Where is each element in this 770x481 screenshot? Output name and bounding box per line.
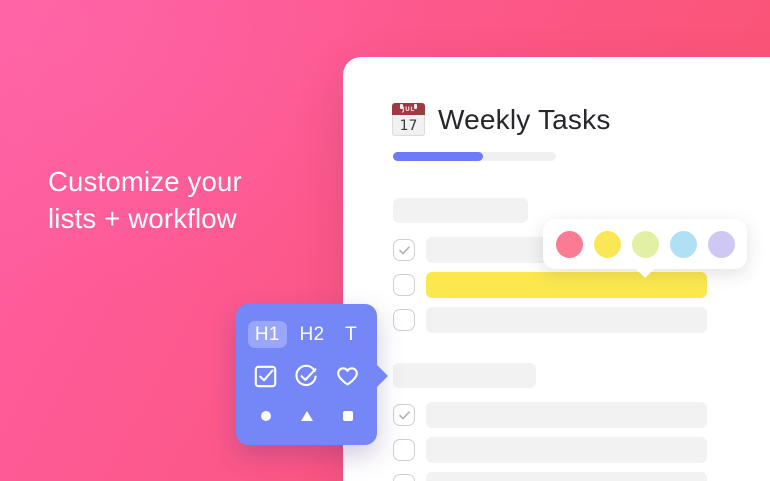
promo-screenshot: Customize your lists + workflow JUL 17 W…: [0, 0, 770, 481]
page-title: Weekly Tasks: [438, 104, 611, 136]
task-checkbox-unchecked[interactable]: [393, 474, 415, 481]
color-picker-popover: [543, 219, 747, 269]
circle-check-icon[interactable]: [294, 363, 320, 389]
progress-bar-fill: [393, 152, 483, 161]
check-icon: [398, 244, 411, 257]
task-group-b: [393, 363, 707, 481]
calendar-ring-left: [400, 104, 403, 109]
task-text-placeholder: [426, 402, 707, 428]
table-row[interactable]: [393, 307, 707, 333]
calendar-ring-right: [414, 104, 417, 109]
group-header-placeholder: [393, 198, 528, 223]
bullet-circle-icon[interactable]: [253, 403, 279, 429]
document-title-row: JUL 17 Weekly Tasks: [392, 103, 611, 136]
task-text-placeholder: [426, 307, 707, 333]
calendar-emoji-month: JUL: [392, 103, 425, 115]
task-checkbox-unchecked[interactable]: [393, 309, 415, 331]
swatch-purple[interactable]: [708, 231, 735, 258]
promo-headline: Customize your lists + workflow: [48, 163, 338, 237]
heading-h2-button[interactable]: H2: [292, 321, 331, 348]
document-card: JUL 17 Weekly Tasks: [343, 57, 770, 481]
checkbox-check-icon[interactable]: [253, 363, 279, 389]
bullet-square-icon[interactable]: [335, 403, 361, 429]
task-text-placeholder: [426, 437, 707, 463]
check-icon: [398, 409, 411, 422]
heart-icon[interactable]: [335, 363, 361, 389]
group-header-placeholder: [393, 363, 536, 388]
task-checkbox-unchecked[interactable]: [393, 274, 415, 296]
swatch-blue[interactable]: [670, 231, 697, 258]
swatch-yellow[interactable]: [594, 231, 621, 258]
table-row[interactable]: [393, 472, 707, 481]
task-checkbox-checked[interactable]: [393, 239, 415, 261]
swatch-green[interactable]: [632, 231, 659, 258]
table-row[interactable]: [393, 437, 707, 463]
bullet-triangle-icon[interactable]: [294, 403, 320, 429]
task-checkbox-checked[interactable]: [393, 404, 415, 426]
calendar-emoji-day: 17: [392, 115, 425, 136]
heading-h1-button[interactable]: H1: [248, 321, 287, 348]
toolbar-row-headings: H1 H2 T: [236, 316, 377, 352]
toolbar-row-bullets: [236, 403, 377, 429]
calendar-emoji: JUL 17: [392, 103, 425, 136]
toolbar-row-list-markers: [236, 359, 377, 393]
format-toolbar: H1 H2 T: [236, 304, 377, 445]
swatch-pink[interactable]: [556, 231, 583, 258]
table-row[interactable]: [393, 272, 707, 298]
table-row[interactable]: [393, 402, 707, 428]
text-style-button[interactable]: T: [337, 321, 365, 348]
task-text-placeholder: [426, 472, 707, 481]
progress-bar-track[interactable]: [393, 152, 556, 161]
task-checkbox-unchecked[interactable]: [393, 439, 415, 461]
task-text-placeholder-highlighted: [426, 272, 707, 298]
